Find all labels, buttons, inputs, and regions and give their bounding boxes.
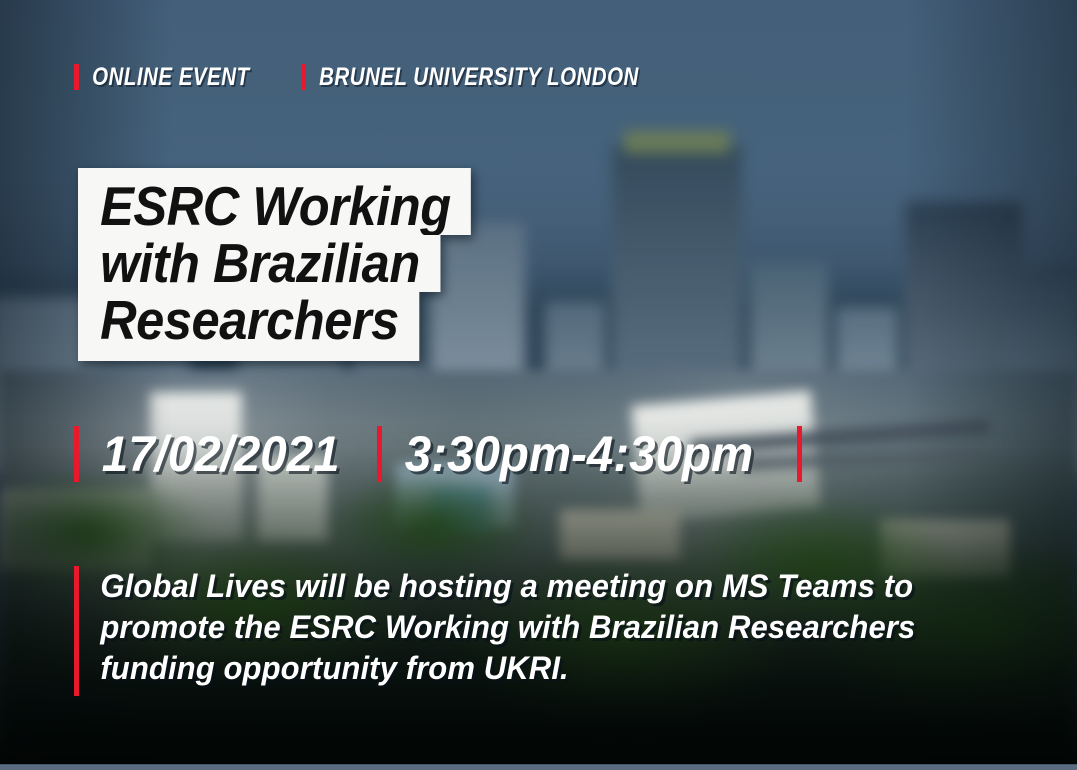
kicker-line: ONLINE EVENT BRUNEL UNIVERSITY LONDON [74,62,712,92]
event-poster: ONLINE EVENT BRUNEL UNIVERSITY LONDON ES… [0,0,1077,770]
event-date: 17/02/2021 [79,423,362,485]
kicker-event-type: ONLINE EVENT [79,62,261,92]
description-line-3: funding opportunity from UKRI. [79,648,915,689]
red-divider-icon [797,426,802,482]
description-line-1: Global Lives will be hosting a meeting o… [79,566,915,607]
poster-title: ESRC Working with Brazilian Researchers [78,168,505,361]
title-line-3: Researchers [78,292,419,361]
description-line-2: promote the ESRC Working with Brazilian … [79,607,915,648]
kicker-organisation: BRUNEL UNIVERSITY LONDON [306,62,639,92]
title-line-2: with Brazilian [78,235,440,292]
event-time: 3:30pm-4:30pm [382,423,776,485]
event-datetime: 17/02/2021 3:30pm-4:30pm [74,422,802,486]
title-line-1: ESRC Working [78,168,471,235]
event-description: Global Lives will be hosting a meeting o… [74,566,941,696]
